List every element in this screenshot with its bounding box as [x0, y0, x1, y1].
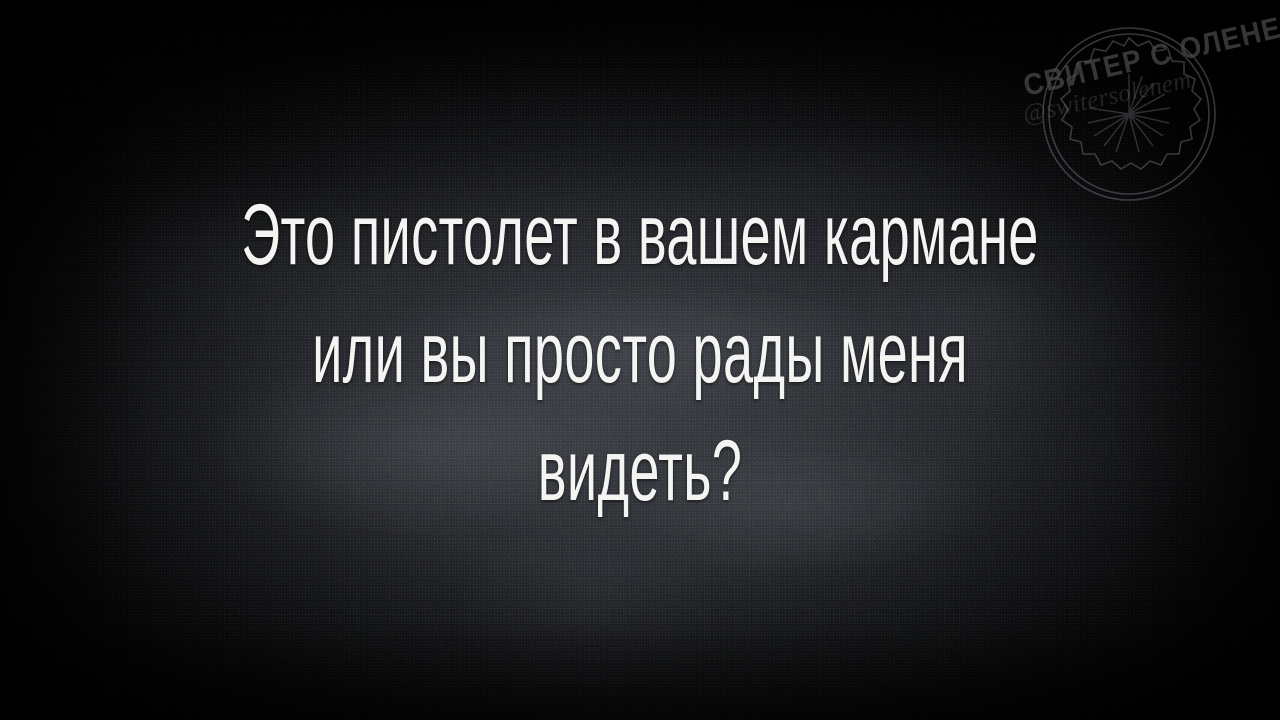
meme-image-canvas: СВИТЕР С ОЛЕНЕМ @switersolenem Это писто…	[0, 0, 1280, 720]
background-vignette	[0, 0, 1280, 720]
